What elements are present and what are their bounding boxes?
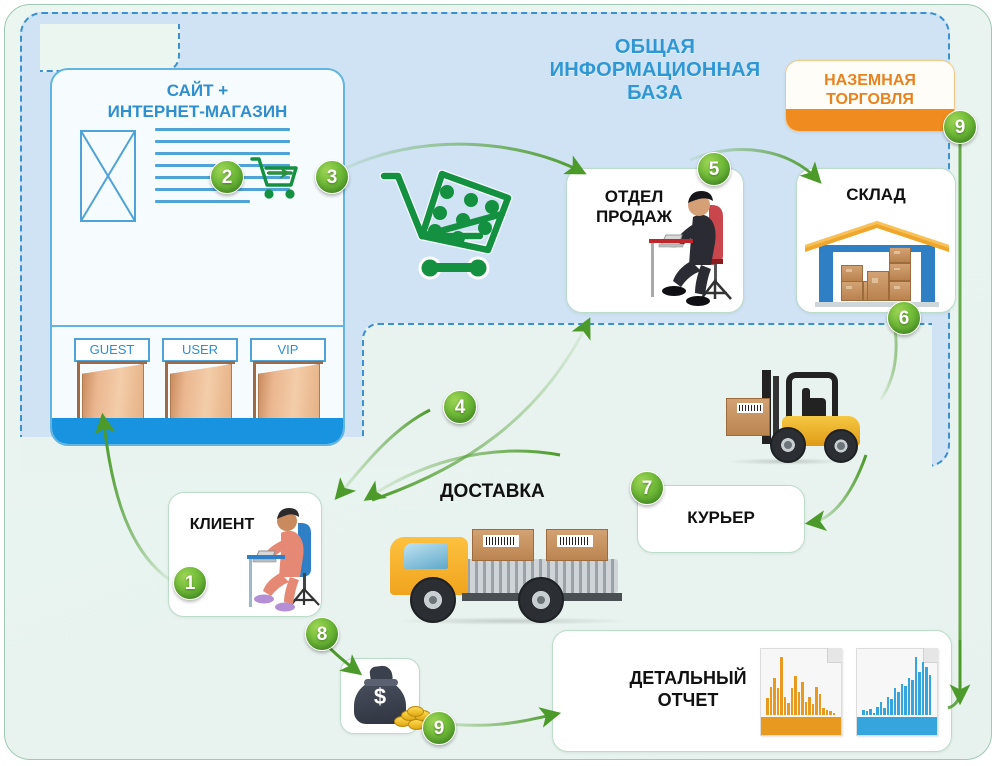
report-bar	[862, 710, 865, 715]
report-bar	[911, 680, 914, 715]
truck-wheel	[518, 577, 564, 623]
report-bar	[766, 698, 769, 715]
door-user-label: USER	[162, 338, 238, 362]
report-bar	[887, 697, 890, 715]
report-bar	[784, 697, 787, 715]
region-notch-top-left	[40, 24, 180, 72]
report-bar	[918, 672, 921, 716]
ground-trade-accent-bar	[786, 109, 954, 131]
report-bar	[787, 703, 790, 715]
ground-trade-line-1: НАЗЕМНАЯ	[786, 71, 954, 90]
ground-trade-card[interactable]: НАЗЕМНАЯ ТОРГОВЛЯ	[785, 60, 955, 132]
report-bar	[798, 692, 801, 715]
door-guest-label: GUEST	[74, 338, 150, 362]
report-documents	[760, 648, 940, 742]
site-shop-title: САЙТ + ИНТЕРНЕТ-МАГАЗИН	[52, 80, 343, 122]
warehouse-box	[889, 247, 911, 263]
report-bar	[869, 709, 872, 715]
site-card-footer-bar	[52, 418, 343, 444]
report-bar	[925, 667, 928, 715]
report-doc-footer	[857, 717, 937, 735]
delivery-title: ДОСТАВКА	[440, 481, 545, 503]
image-placeholder-icon	[80, 130, 136, 222]
truck-window	[404, 543, 448, 569]
badge-7[interactable]: 7	[630, 471, 664, 505]
forklift-wheel	[824, 429, 858, 463]
report-bar	[801, 682, 804, 715]
diagram-canvas: ОБЩАЯ ИНФОРМАЦИОННАЯ БАЗА САЙТ + ИНТЕРНЕ…	[0, 0, 1000, 766]
warehouse-card[interactable]: СКЛАД	[796, 168, 956, 313]
report-bar	[770, 687, 773, 715]
report-bar	[897, 692, 900, 715]
forklift-cargo-box	[726, 398, 770, 436]
site-card-divider	[52, 325, 343, 327]
report-bar	[915, 657, 918, 715]
door-vip-label: VIP	[250, 338, 326, 362]
ground-trade-label: НАЗЕМНАЯ ТОРГОВЛЯ	[786, 71, 954, 109]
badge-6[interactable]: 6	[887, 301, 921, 335]
report-bar	[833, 713, 836, 715]
report-bar	[794, 676, 797, 715]
report-bar	[876, 707, 879, 715]
report-doc-footer	[761, 717, 841, 735]
report-bar	[822, 708, 825, 715]
warehouse-box	[841, 265, 863, 282]
badge-3[interactable]: 3	[315, 160, 349, 194]
report-bar	[819, 694, 822, 715]
money-bag-icon: $	[354, 666, 410, 724]
truck-cargo-box	[472, 529, 534, 561]
report-bar	[773, 678, 776, 715]
info-base-line-1: ОБЩАЯ	[520, 36, 790, 59]
badge-5[interactable]: 5	[697, 152, 731, 186]
badge-4[interactable]: 4	[443, 390, 477, 424]
forklift-wheel	[770, 427, 806, 463]
report-bar	[922, 662, 925, 715]
report-bar	[890, 699, 893, 715]
shopping-cart-goods-icon	[378, 158, 528, 288]
warehouse-illustration	[805, 219, 949, 307]
report-bar	[791, 688, 794, 715]
forklift-illustration	[726, 370, 866, 465]
report-bars-orange	[766, 657, 836, 715]
report-bar	[929, 675, 932, 715]
warehouse-box	[841, 281, 863, 301]
info-base-line-3: БАЗА	[520, 82, 790, 105]
report-bar	[866, 711, 869, 715]
truck-wheel	[410, 577, 456, 623]
badge-9-money[interactable]: 9	[422, 711, 456, 745]
truck-cargo-box	[546, 529, 608, 561]
info-base-line-2: ИНФОРМАЦИОННАЯ	[520, 59, 790, 82]
site-title-line-1: САЙТ +	[52, 80, 343, 101]
report-bar	[805, 702, 808, 715]
site-shop-card[interactable]: САЙТ + ИНТЕРНЕТ-МАГАЗИН GUEST USER VIP	[50, 68, 345, 446]
report-bar	[780, 657, 783, 715]
report-bar	[880, 702, 883, 715]
report-bar	[812, 704, 815, 715]
report-bar	[908, 678, 911, 715]
warehouse-box	[889, 263, 911, 281]
report-bar	[883, 708, 886, 715]
delivery-truck-illustration	[388, 515, 638, 625]
warehouse-label: СКЛАД	[797, 185, 955, 205]
report-bar	[826, 710, 829, 715]
report-bar	[901, 684, 904, 715]
shopping-cart-small-icon	[247, 152, 305, 204]
badge-1[interactable]: 1	[173, 566, 207, 600]
warehouse-floor	[815, 302, 939, 307]
dollar-symbol: $	[354, 686, 406, 708]
report-bar	[777, 688, 780, 715]
warehouse-roof	[805, 219, 949, 253]
report-bar	[808, 697, 811, 715]
ground-trade-line-2: ТОРГОВЛЯ	[786, 90, 954, 109]
report-bar	[894, 688, 897, 715]
report-bar	[815, 687, 818, 715]
badge-9-ground-trade[interactable]: 9	[943, 110, 977, 144]
report-doc-orange	[760, 648, 842, 736]
courier-label: КУРЬЕР	[638, 508, 804, 528]
report-bar	[829, 711, 832, 715]
page-title: ОБЩАЯ ИНФОРМАЦИОННАЯ БАЗА	[520, 36, 790, 105]
badge-2[interactable]: 2	[210, 160, 244, 194]
report-bar	[904, 686, 907, 715]
report-bar	[873, 713, 876, 715]
report-bars-blue	[862, 657, 932, 715]
warehouse-box	[867, 271, 889, 301]
salesman-at-desk-illustration	[649, 181, 743, 309]
site-title-line-2: ИНТЕРНЕТ-МАГАЗИН	[52, 101, 343, 122]
sales-department-card[interactable]: ОТДЕЛ ПРОДАЖ	[566, 168, 744, 313]
badge-8[interactable]: 8	[305, 617, 339, 651]
warehouse-box	[889, 281, 911, 301]
client-at-computer-illustration	[247, 501, 325, 613]
report-doc-blue	[856, 648, 938, 736]
